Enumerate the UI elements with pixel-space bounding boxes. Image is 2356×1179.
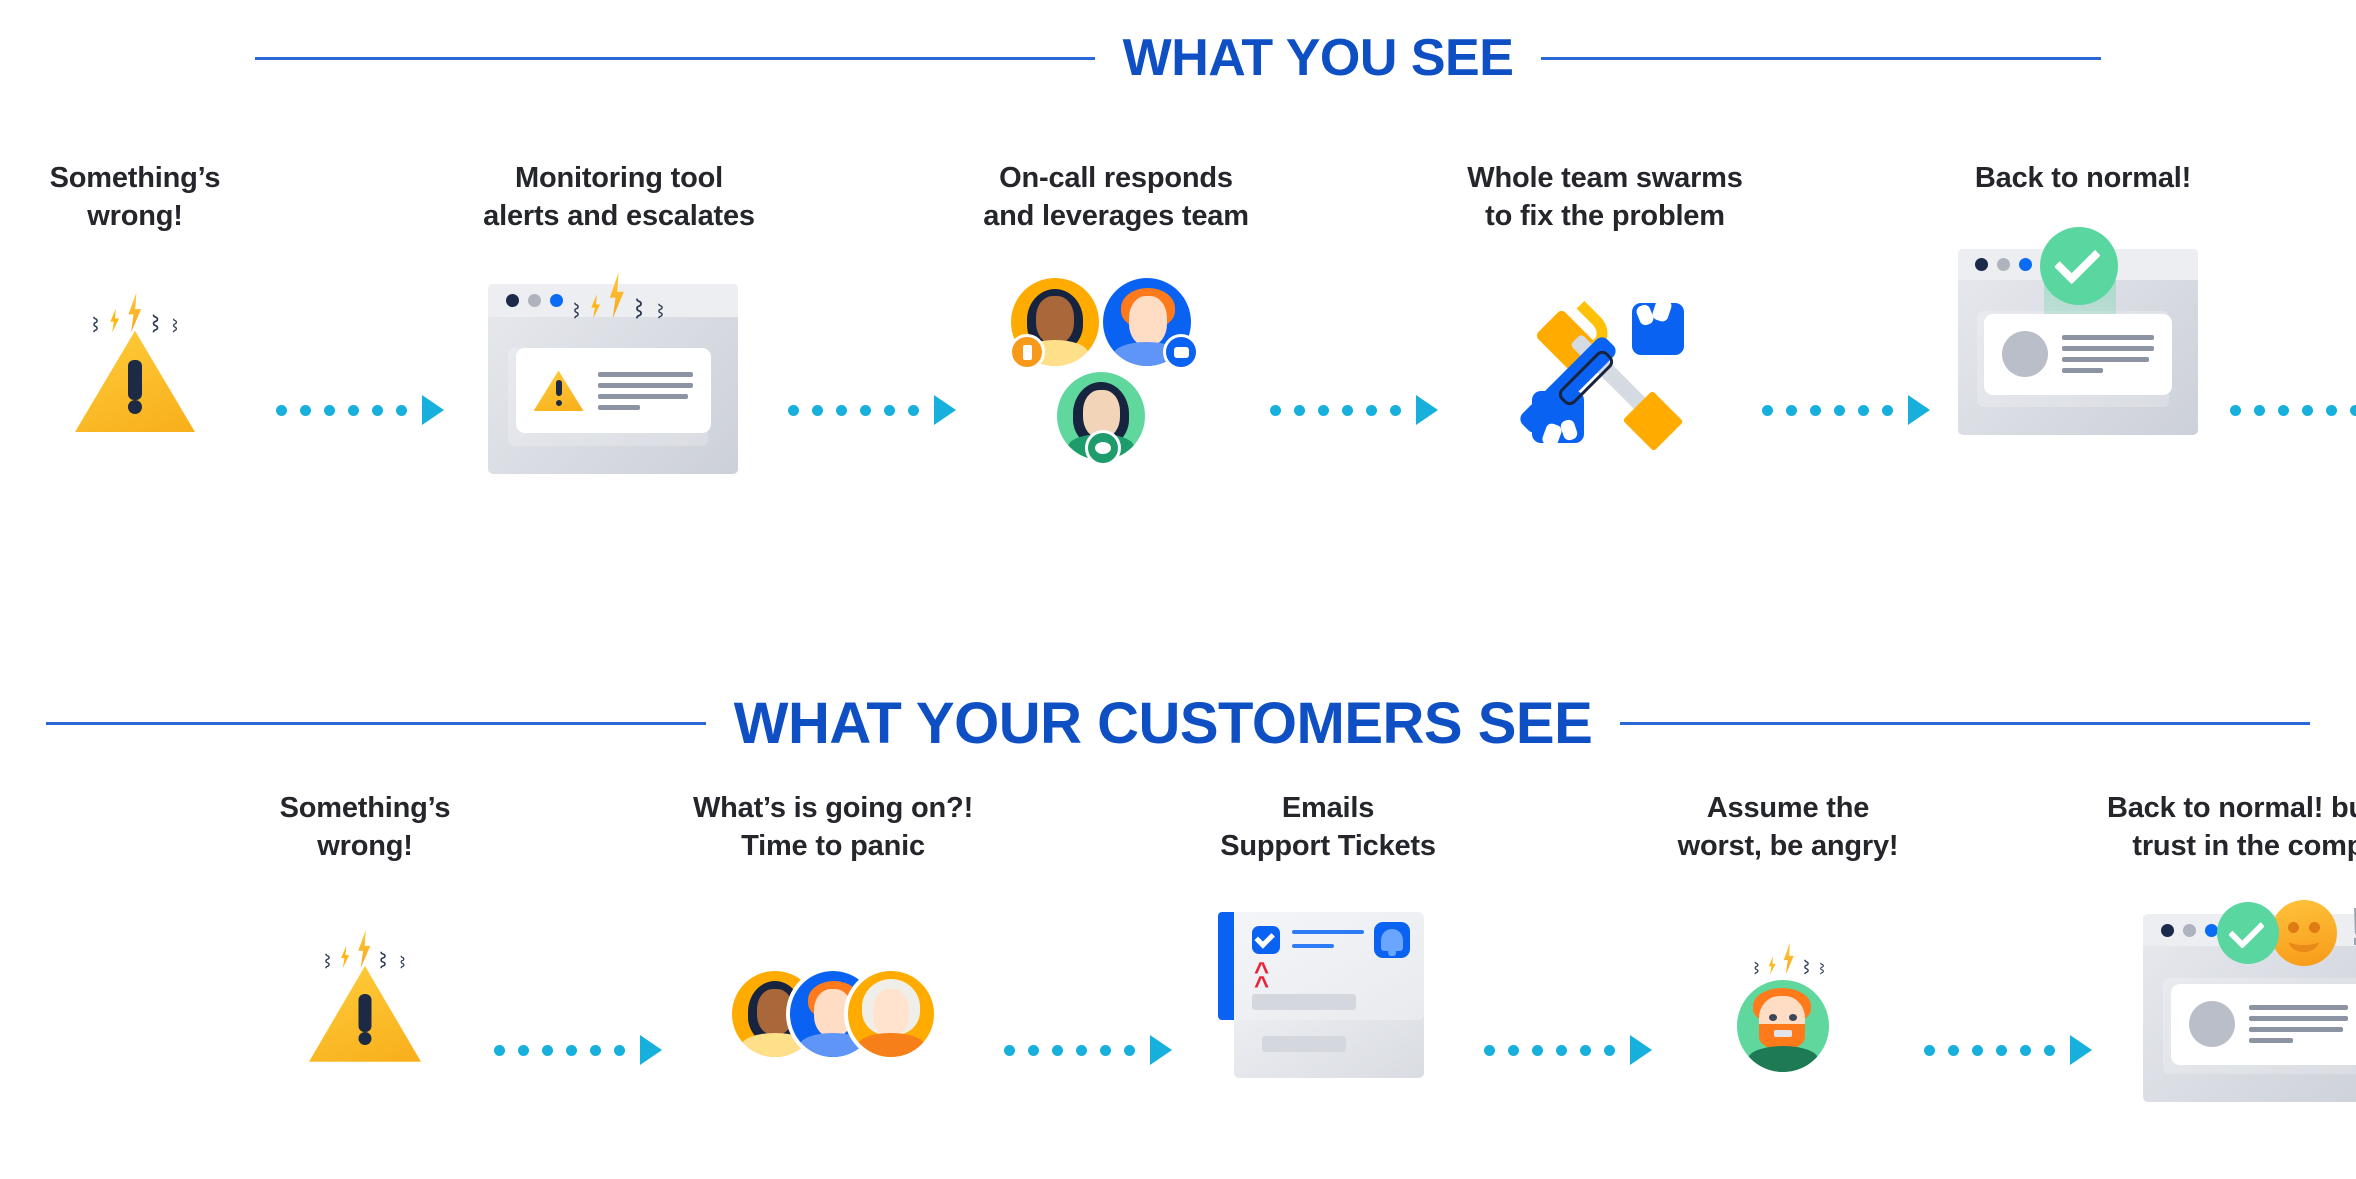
flow-row-internal: Something’s wrong! 〰 〰 〰	[0, 160, 2356, 459]
window-dot-gray	[2183, 924, 2196, 937]
triangle-shape	[309, 962, 421, 1066]
angry-customer-icon: 〰 〰 〰	[1733, 936, 1843, 1076]
notification-bell-icon	[1374, 922, 1410, 958]
step-monitoring-tool: Monitoring tool alerts and escalates	[454, 160, 784, 459]
mixed-feelings-window-icon: !	[2143, 894, 2356, 1094]
resolved-window-icon	[1958, 227, 2208, 427]
lightning-bolt-icon: 〰 〰 〰	[89, 284, 182, 332]
section-title: WHAT YOU SEE	[1095, 28, 1542, 88]
step-team-swarms: Whole team swarms to fix the problem	[1450, 160, 1760, 459]
lightning-bolt-icon: 〰 〰 〰	[570, 264, 668, 318]
sad-face-icon	[2271, 900, 2337, 966]
status-card	[1984, 314, 2171, 394]
step-customer-panic: What’s is going on?! Time to panic	[668, 790, 998, 1089]
priority-up-chevrons-icon: ^^	[1254, 964, 1269, 993]
window-dot-dark	[1975, 258, 1988, 271]
connector-arrow-3	[1270, 395, 1438, 425]
connector-arrow-7	[1004, 1035, 1172, 1065]
message-icon	[1085, 430, 1121, 466]
window-dot-gray	[1997, 258, 2010, 271]
window-dot-dark	[2161, 924, 2174, 937]
arrow-head-icon	[422, 395, 444, 425]
step-art-angry-customer: 〰 〰 〰	[1733, 899, 1843, 1089]
avatar	[2002, 331, 2048, 377]
step-emails-tickets: Emails Support Tickets ^^	[1178, 790, 1478, 1089]
step-less-trust: Back to normal! but less trust in the co…	[2098, 790, 2356, 1089]
lightning-bolt-icon: 〰 〰 〰	[1751, 936, 1829, 974]
section-header-what-you-see: WHAT YOU SEE	[0, 28, 2356, 88]
step-customer-something-wrong: Something’s wrong! 〰 〰 〰	[240, 790, 490, 1089]
avatar	[2189, 1001, 2235, 1047]
email-accent-bar	[1218, 912, 1234, 1020]
checkbox-checked-icon	[1252, 926, 1280, 954]
step-back-to-normal: Back to normal!	[1938, 160, 2228, 422]
step-label: On-call responds and leverages team	[983, 160, 1249, 235]
connector-arrow-6	[494, 1035, 662, 1065]
monitoring-window-icon: 〰 〰 〰	[488, 264, 750, 464]
step-label: Emails Support Tickets	[1220, 790, 1436, 865]
arrow-head-icon	[1630, 1035, 1652, 1065]
arrow-head-icon	[2070, 1035, 2092, 1065]
connector-arrow-9	[1924, 1035, 2092, 1065]
step-art-email-ticket: ^^	[1218, 899, 1438, 1089]
window-dot-blue	[550, 294, 563, 307]
check-mark-icon	[2217, 902, 2279, 964]
step-label: Something’s wrong!	[280, 790, 451, 865]
check-mark-icon	[2040, 227, 2118, 305]
step-label: Back to normal!	[1975, 160, 2191, 198]
chat-bubble-icon	[1163, 334, 1199, 370]
connector-arrow-1	[276, 395, 444, 425]
triangle-shape	[75, 326, 195, 436]
flow-row-customer: Something’s wrong! 〰 〰 〰	[240, 790, 2240, 1089]
section-title: WHAT YOUR CUSTOMERS SEE	[706, 690, 1621, 757]
connector-arrow-5	[2230, 395, 2356, 425]
customer-avatars-group	[728, 961, 938, 1071]
avatar-angry	[1737, 980, 1829, 1072]
oncall-avatars-group	[1011, 264, 1221, 464]
arrow-head-icon	[1150, 1035, 1172, 1065]
warning-triangle-icon: 〰 〰 〰	[309, 922, 421, 1077]
step-label: Whole team swarms to fix the problem	[1467, 160, 1742, 235]
step-art-monitoring-window: 〰 〰 〰	[488, 269, 750, 459]
step-art-warning-triangle: 〰 〰 〰	[309, 899, 421, 1089]
step-art-mixed-feelings-window: !	[2143, 899, 2356, 1089]
connector-arrow-4	[1762, 395, 1930, 425]
connector-arrow-2	[788, 395, 956, 425]
tools-icon	[1518, 285, 1693, 455]
step-art-warning-triangle: 〰 〰 〰	[75, 269, 195, 459]
step-art-oncall-avatars	[1011, 269, 1221, 459]
avatar-customer-3	[844, 967, 938, 1061]
step-label: Something’s wrong!	[50, 160, 221, 235]
step-something-wrong: Something’s wrong! 〰 〰 〰	[0, 160, 270, 459]
step-art-tools	[1518, 269, 1693, 459]
wrench-icon	[1532, 303, 1682, 443]
header-rule-left	[46, 722, 706, 725]
status-card	[2171, 984, 2356, 1065]
header-rule-right	[1541, 57, 2101, 60]
step-label: Back to normal! but less trust in the co…	[2107, 790, 2356, 865]
alert-card	[516, 348, 711, 433]
window-dot-dark	[506, 294, 519, 307]
warning-triangle-icon	[534, 369, 584, 413]
email-ticket-icon: ^^	[1218, 902, 1438, 1087]
step-label: Monitoring tool alerts and escalates	[483, 160, 755, 235]
arrow-head-icon	[1416, 395, 1438, 425]
window-dot-gray	[528, 294, 541, 307]
step-art-resolved-window	[1958, 232, 2208, 422]
header-rule-right	[1620, 722, 2310, 725]
window-dot-blue	[2019, 258, 2032, 271]
email-card-front: ^^	[1218, 912, 1424, 1020]
connector-arrow-8	[1484, 1035, 1652, 1065]
header-rule-left	[255, 57, 1095, 60]
email-card-back	[1234, 1010, 1424, 1078]
step-oncall-responds: On-call responds and leverages team	[966, 160, 1266, 459]
warning-triangle-icon: 〰 〰 〰	[75, 284, 195, 444]
step-art-customer-avatars	[728, 899, 938, 1089]
step-label: What’s is going on?! Time to panic	[693, 790, 973, 865]
arrow-head-icon	[1908, 395, 1930, 425]
exclamation-mark-icon: !	[2349, 900, 2356, 954]
step-label: Assume the worst, be angry!	[1678, 790, 1899, 865]
section-header-what-your-customers-see: WHAT YOUR CUSTOMERS SEE	[0, 690, 2356, 757]
arrow-head-icon	[934, 395, 956, 425]
step-assume-worst: Assume the worst, be angry! 〰 〰 〰	[1658, 790, 1918, 1089]
arrow-head-icon	[640, 1035, 662, 1065]
